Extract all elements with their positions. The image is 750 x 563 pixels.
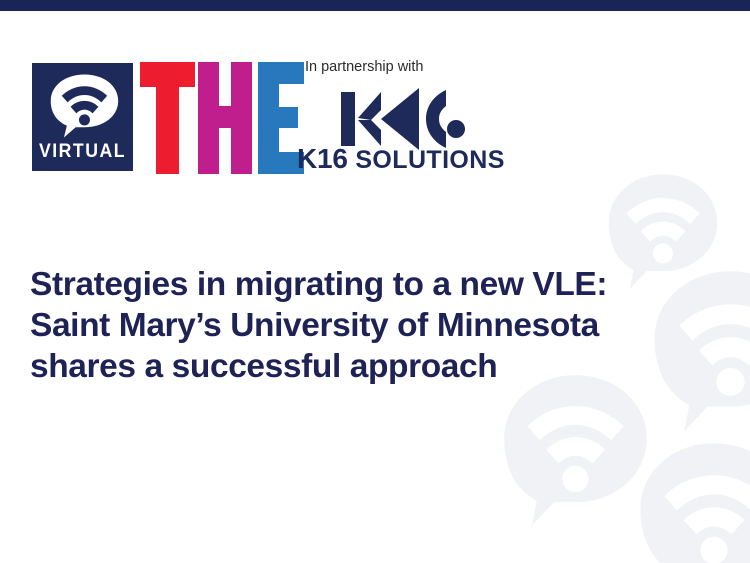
k16-wordmark: K16 SOLUTIONS — [297, 143, 505, 175]
the-logo-letter-t — [140, 62, 195, 174]
the-logo-letter-h — [198, 62, 252, 174]
page-title: Strategies in migrating to a new VLE: Sa… — [30, 264, 710, 387]
k16-wordmark-primary: K16 — [297, 143, 348, 174]
partnership-label: In partnership with — [305, 58, 535, 76]
speech-bubble-wifi-icon — [46, 73, 120, 144]
title-slide: VIRTUAL In partnersh — [0, 0, 750, 563]
top-accent-band — [0, 0, 750, 11]
watermark-bubble-4 — [640, 443, 750, 563]
the-logo — [140, 62, 304, 174]
k16-wordmark-secondary: SOLUTIONS — [355, 146, 504, 174]
watermark-bubble-3 — [504, 375, 647, 525]
virtual-logo: VIRTUAL — [32, 63, 133, 171]
page-title-line-3: shares a successful approach — [30, 346, 710, 387]
k16-logo-mark — [341, 88, 465, 150]
partnership-block: In partnership with K16 SOLUTIONS — [305, 58, 535, 76]
page-title-line-1: Strategies in migrating to a new VLE: — [30, 264, 710, 305]
page-title-line-2: Saint Mary’s University of Minnesota — [30, 305, 710, 346]
virtual-logo-wordmark: VIRTUAL — [36, 141, 130, 163]
